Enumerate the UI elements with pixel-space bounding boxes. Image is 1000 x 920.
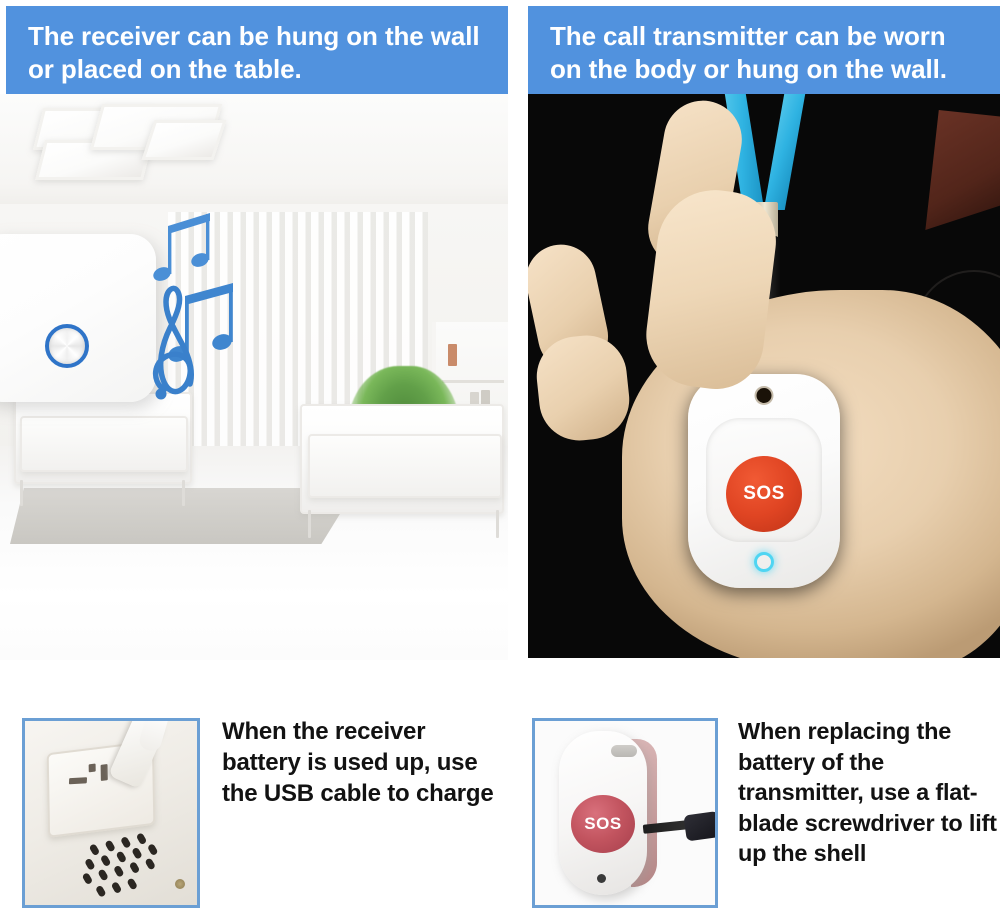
charging-block: When the receiver battery is used up, us… (22, 700, 502, 920)
receiver-panel: The receiver can be hung on the wall or … (0, 0, 508, 660)
led-indicator-icon (754, 552, 774, 572)
receiver-device (0, 234, 156, 402)
charging-thumbnail (22, 718, 200, 908)
battery-thumbnail: SOS (532, 718, 718, 908)
screwdriver-handle-icon (683, 810, 718, 841)
ceiling-light-panel (142, 120, 227, 160)
sofa-seat (308, 434, 502, 498)
housing-screw (175, 879, 185, 889)
sos-button[interactable]: SOS (726, 456, 802, 532)
lanyard-strap-right (764, 94, 805, 210)
armchair-seat (20, 416, 188, 472)
top-vent (611, 745, 637, 757)
speaker-grille (80, 833, 172, 904)
led-indicator-icon (597, 874, 606, 883)
sos-button[interactable]: SOS (571, 795, 635, 853)
receiver-power-button[interactable] (45, 324, 89, 368)
transmitter-scene-photo: SOS (528, 94, 1000, 658)
lanyard-hole (757, 388, 772, 403)
top-panels-row: The receiver can be hung on the wall or … (0, 0, 1000, 660)
battery-caption: When replacing the battery of the transm… (718, 700, 1000, 920)
bottom-info-row: When the receiver battery is used up, us… (0, 700, 1000, 920)
charging-caption: When the receiver battery is used up, us… (200, 700, 502, 920)
battery-block: SOS When replacing the battery of the tr… (532, 700, 1000, 920)
transmitter-banner-text: The call transmitter can be worn on the … (528, 6, 1000, 94)
music-notes-icon (148, 204, 278, 404)
transmitter-panel: The call transmitter can be worn on the … (528, 0, 1000, 660)
transmitter-pendant: SOS (688, 374, 840, 588)
receiver-banner-text: The receiver can be hung on the wall or … (6, 6, 508, 94)
receiver-scene-photo (0, 94, 508, 660)
